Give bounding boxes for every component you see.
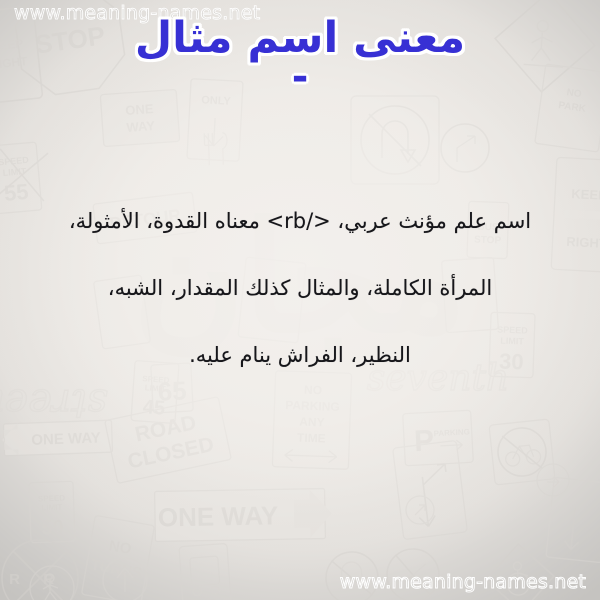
svg-text:ONE: ONE	[125, 101, 154, 118]
svg-text:SPEED: SPEED	[0, 155, 30, 168]
meaning-line: النظير، الفراش ينام عليه.	[0, 322, 600, 389]
svg-text:ANY: ANY	[299, 415, 325, 430]
svg-text:DETOUR: DETOUR	[109, 206, 182, 234]
svg-text:ONLY: ONLY	[201, 94, 232, 108]
page-title-block: معنى اسم مثال -	[0, 16, 600, 100]
svg-text:SPEED: SPEED	[38, 494, 66, 504]
svg-text:LIMIT: LIMIT	[145, 383, 167, 393]
svg-text:ROAD: ROAD	[133, 411, 198, 446]
svg-text:CLOSED: CLOSED	[126, 433, 216, 474]
svg-text:LIMIT: LIMIT	[500, 336, 524, 347]
svg-text:مجان: مجان	[133, 194, 466, 362]
svg-text:TIME: TIME	[297, 430, 326, 445]
svg-text:SPEED: SPEED	[142, 374, 170, 385]
svg-text:seventh: seventh	[367, 358, 509, 399]
svg-text:KEEP: KEEP	[571, 186, 600, 203]
svg-text:STOP: STOP	[474, 235, 502, 247]
background-haze	[0, 0, 600, 600]
svg-text:LIMIT: LIMIT	[41, 503, 62, 513]
svg-text:PARKING: PARKING	[285, 398, 340, 414]
svg-text:R: R	[9, 571, 20, 588]
svg-text:55: 55	[3, 179, 30, 206]
svg-text:R: R	[43, 571, 54, 588]
meaning-line: المرأة الكاملة، والمثال كذلك المقدار، ال…	[0, 255, 600, 322]
svg-text:BUS: BUS	[477, 222, 499, 234]
image-canvas: .ln { fill:none; stroke:#d4d1cd; stroke-…	[0, 0, 600, 600]
svg-text:KEEP: KEEP	[0, 36, 24, 53]
title-dash: -	[0, 54, 600, 100]
svg-text:NO: NO	[108, 537, 133, 558]
svg-text:TURNS: TURNS	[89, 556, 143, 582]
svg-text:RIGHT: RIGHT	[0, 54, 29, 72]
svg-text:LIMIT: LIMIT	[2, 166, 27, 178]
svg-text:PARKING: PARKING	[433, 427, 470, 438]
svg-text:ONE WAY: ONE WAY	[158, 500, 279, 532]
watermark-top: www.meaning-names.net	[14, 2, 260, 24]
watermark-bottom: www.meaning-names.net	[340, 571, 586, 593]
page-title: معنى اسم مثال	[0, 16, 600, 60]
svg-text:ONE WAY: ONE WAY	[31, 430, 101, 449]
svg-text:WAY: WAY	[126, 118, 156, 135]
svg-text:P: P	[413, 424, 435, 458]
background-sign-pattern: .ln { fill:none; stroke:#d4d1cd; stroke-…	[0, 0, 600, 600]
svg-text:50: 50	[41, 517, 64, 540]
svg-text:STOP: STOP	[33, 20, 107, 59]
svg-text:NO: NO	[566, 87, 583, 100]
meaning-text-block: اسم علم مؤنث عربي، </rb> معناه القدوة، ا…	[0, 188, 600, 389]
svg-text:street: street	[0, 380, 108, 426]
svg-text:45: 45	[142, 396, 166, 419]
svg-text:PARK: PARK	[558, 100, 588, 115]
meaning-line: اسم علم مؤنث عربي، </rb> معناه القدوة، ا…	[0, 188, 600, 255]
svg-text:30: 30	[499, 349, 524, 375]
svg-text:65: 65	[157, 375, 187, 406]
svg-text:RIGHT: RIGHT	[566, 234, 600, 251]
svg-text:NO: NO	[304, 383, 322, 398]
svg-text:SPEED: SPEED	[497, 324, 528, 335]
